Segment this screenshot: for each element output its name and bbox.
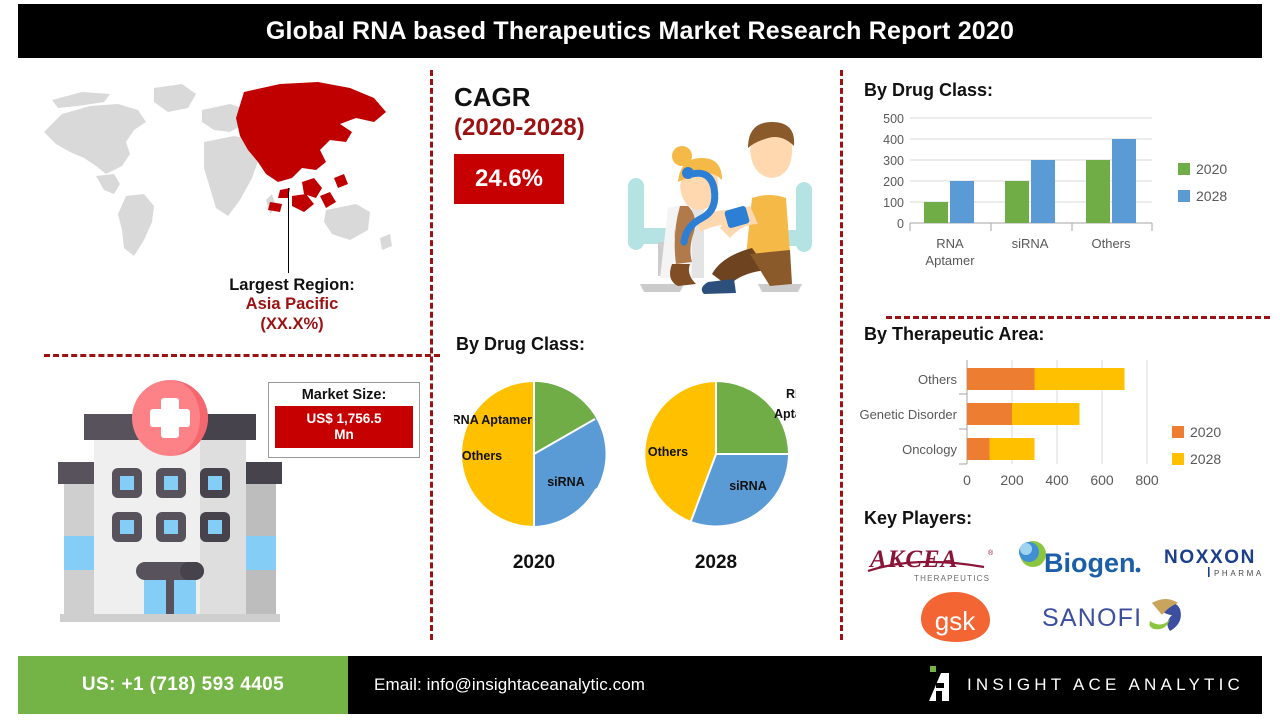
svg-text:Oncology: Oncology <box>902 442 957 457</box>
logo-noxxon: NOXXON PHARMA <box>1162 541 1280 585</box>
bar-chart-therapeutic-area: Others Genetic Disorder Oncology 0 200 4… <box>854 354 1272 509</box>
svg-text:600: 600 <box>1090 472 1114 488</box>
svg-text:siRNA: siRNA <box>1012 236 1049 251</box>
largest-region-percent: (XX.X%) <box>142 315 442 334</box>
market-size-value: US$ 1,756.5 Mn <box>275 406 413 448</box>
left-column: Largest Region: Asia Pacific (XX.X%) <box>22 58 422 650</box>
svg-text:0: 0 <box>897 217 904 231</box>
world-map-svg <box>34 70 424 280</box>
logo-noxxon-svg: NOXXON PHARMA <box>1162 541 1280 585</box>
doctor-patient-illustration <box>600 78 840 318</box>
bar-chart-ticks-minor <box>910 223 1152 231</box>
ta-bar-2020-others <box>967 368 1035 390</box>
footer-brand: INSIGHT ACE ANALYTIC <box>927 665 1244 705</box>
market-size-value-line1: US$ 1,756.5 <box>277 411 411 427</box>
pie-2028-svg: RNA Aptamer siRNA Others <box>636 374 796 534</box>
svg-text:Aptamer: Aptamer <box>925 253 975 268</box>
pie-2020-year: 2020 <box>444 552 624 574</box>
largest-region-name: Asia Pacific <box>142 295 442 314</box>
svg-text:800: 800 <box>1135 472 1159 488</box>
cagr-title: CAGR <box>454 82 531 113</box>
svg-text:NOXXON: NOXXON <box>1164 547 1256 568</box>
bar-2028-rna-aptamer <box>950 181 974 223</box>
ta-legend-label-2020: 2020 <box>1190 424 1221 440</box>
pie-2028-label-sirna: siRNA <box>729 479 767 493</box>
pie-2020-label-sirna: siRNA <box>547 475 585 489</box>
bar-2020-others <box>1086 160 1110 223</box>
ta-legend-label-2028: 2028 <box>1190 451 1221 467</box>
ta-bar-2020-oncology <box>967 438 990 460</box>
svg-text:Biogen: Biogen <box>1044 548 1136 578</box>
middle-column: CAGR (2020-2028) 24.6% <box>440 58 836 650</box>
ta-legend-swatch-2020 <box>1172 426 1184 438</box>
svg-text:®: ® <box>988 549 994 557</box>
svg-text:AKCEA: AKCEA <box>868 546 958 573</box>
footer-contact-strip: Email: info@insightaceanalytic.com INSIG… <box>348 656 1262 714</box>
page-title: Global RNA based Therapeutics Market Res… <box>266 17 1014 46</box>
brand-logo-icon <box>927 665 953 705</box>
svg-text:Others: Others <box>918 372 958 387</box>
key-players-row-1: AKCEA ® THERAPEUTICS Biogen <box>860 536 1270 590</box>
therapeutic-area-title: By Therapeutic Area: <box>864 324 1044 345</box>
logo-gsk-svg: gsk <box>916 590 994 644</box>
svg-text:400: 400 <box>883 133 904 147</box>
ta-bar-2028-others <box>1035 368 1125 390</box>
bar-chart-legend: 2020 2028 <box>1178 161 1227 204</box>
svg-text:300: 300 <box>883 154 904 168</box>
vertical-divider-right <box>840 70 843 640</box>
svg-text:500: 500 <box>883 112 904 126</box>
ta-legend-swatch-2028 <box>1172 453 1184 465</box>
ta-bar-2028-genetic-disorder <box>1012 403 1080 425</box>
key-players-row-2: gsk SANOFI <box>860 590 1270 644</box>
bar-2028-others <box>1112 139 1136 223</box>
ta-chart-category-labels: Others Genetic Disorder Oncology <box>859 372 957 457</box>
legend-label-2028: 2028 <box>1196 188 1227 204</box>
svg-text:THERAPEUTICS: THERAPEUTICS <box>914 574 990 583</box>
pie-chart-2028: RNA Aptamer siRNA Others 2028 <box>626 374 806 574</box>
market-size-value-line2: Mn <box>277 427 411 443</box>
bar-chart-svg: 500 400 300 200 100 0 <box>862 110 1272 275</box>
footer-email: Email: info@insightaceanalytic.com <box>348 675 645 695</box>
legend-swatch-2028 <box>1178 190 1190 202</box>
svg-text:Others: Others <box>1091 236 1131 251</box>
ta-chart-x-ticks: 0 200 400 600 800 <box>963 472 1159 488</box>
pie-2028-label-others: Others <box>648 445 688 459</box>
svg-text:RNA: RNA <box>936 236 964 251</box>
right-column: By Drug Class: 500 400 300 200 100 0 <box>852 58 1272 650</box>
svg-text:400: 400 <box>1045 472 1069 488</box>
bar-chart-title: By Drug Class: <box>864 80 993 101</box>
logo-biogen: Biogen <box>1012 540 1144 586</box>
key-players-logos: AKCEA ® THERAPEUTICS Biogen <box>860 536 1270 644</box>
cagr-period: (2020-2028) <box>454 114 585 142</box>
market-size-title: Market Size: <box>275 387 413 403</box>
bar-chart-drug-class: 500 400 300 200 100 0 <box>862 110 1272 275</box>
logo-biogen-svg: Biogen <box>1012 540 1144 586</box>
logo-sanofi: SANOFI <box>1040 593 1190 641</box>
logo-akcea-svg: AKCEA ® THERAPEUTICS <box>866 541 994 585</box>
pie-2020-svg: RNA Aptamer siRNA Others <box>454 374 614 534</box>
bar-chart-x-labels: RNA Aptamer siRNA Others <box>925 236 1131 268</box>
header-bar: Global RNA based Therapeutics Market Res… <box>18 4 1262 58</box>
svg-text:SANOFI: SANOFI <box>1042 604 1142 632</box>
svg-text:100: 100 <box>883 196 904 210</box>
largest-region-label: Largest Region: <box>142 276 442 295</box>
map-highlight-asia-pacific <box>236 82 386 212</box>
infographic-canvas: Largest Region: Asia Pacific (XX.X%) <box>0 58 1280 650</box>
bar-chart-y-ticks: 500 400 300 200 100 0 <box>883 112 904 231</box>
world-map <box>34 70 424 280</box>
bar-2020-sirna <box>1005 181 1029 223</box>
therapeutic-chart-svg: Others Genetic Disorder Oncology 0 200 4… <box>854 354 1272 509</box>
ta-bar-2020-genetic-disorder <box>967 403 1012 425</box>
pies-section-title: By Drug Class: <box>456 334 585 355</box>
hospital-icon-svg <box>50 376 290 646</box>
pie-2028-year: 2028 <box>626 552 806 574</box>
map-pointer-line <box>288 188 289 273</box>
pie-2028-label-aptamer: Aptamer <box>774 407 796 421</box>
ta-bar-2028-oncology <box>990 438 1035 460</box>
logo-akcea: AKCEA ® THERAPEUTICS <box>866 541 994 585</box>
svg-text:PHARMA: PHARMA <box>1214 569 1264 578</box>
left-horizontal-divider <box>44 354 440 357</box>
market-size-box: Market Size: US$ 1,756.5 Mn <box>268 382 420 458</box>
hospital-icon <box>50 376 290 646</box>
footer-phone: US: +1 (718) 593 4405 <box>18 656 348 714</box>
largest-region-block: Largest Region: Asia Pacific (XX.X%) <box>142 276 442 334</box>
svg-text:0: 0 <box>963 472 971 488</box>
doctor-patient-svg <box>600 78 840 318</box>
legend-swatch-2020 <box>1178 163 1190 175</box>
logo-sanofi-svg: SANOFI <box>1040 593 1190 641</box>
bar-2020-rna-aptamer <box>924 202 948 223</box>
brand-name: INSIGHT ACE ANALYTIC <box>967 675 1244 695</box>
logo-gsk: gsk <box>916 590 994 644</box>
key-players-title: Key Players: <box>864 508 972 529</box>
pie-chart-2020: RNA Aptamer siRNA Others 2020 <box>444 374 624 574</box>
cagr-value-badge: 24.6% <box>454 154 564 204</box>
pie-2020-label-others: Others <box>462 449 502 463</box>
svg-text:gsk: gsk <box>935 606 976 636</box>
ta-chart-legend: 2020 2028 <box>1172 424 1221 467</box>
pie-2020-label-rna-aptamer: RNA Aptamer <box>454 413 532 427</box>
pie-2028-label-rna: RNA <box>786 387 796 401</box>
svg-text:200: 200 <box>1000 472 1024 488</box>
svg-text:Genetic Disorder: Genetic Disorder <box>859 407 957 422</box>
bar-2028-sirna <box>1031 160 1055 223</box>
footer-bar: US: +1 (718) 593 4405 Email: info@insigh… <box>18 656 1262 714</box>
legend-label-2020: 2020 <box>1196 161 1227 177</box>
svg-text:200: 200 <box>883 175 904 189</box>
